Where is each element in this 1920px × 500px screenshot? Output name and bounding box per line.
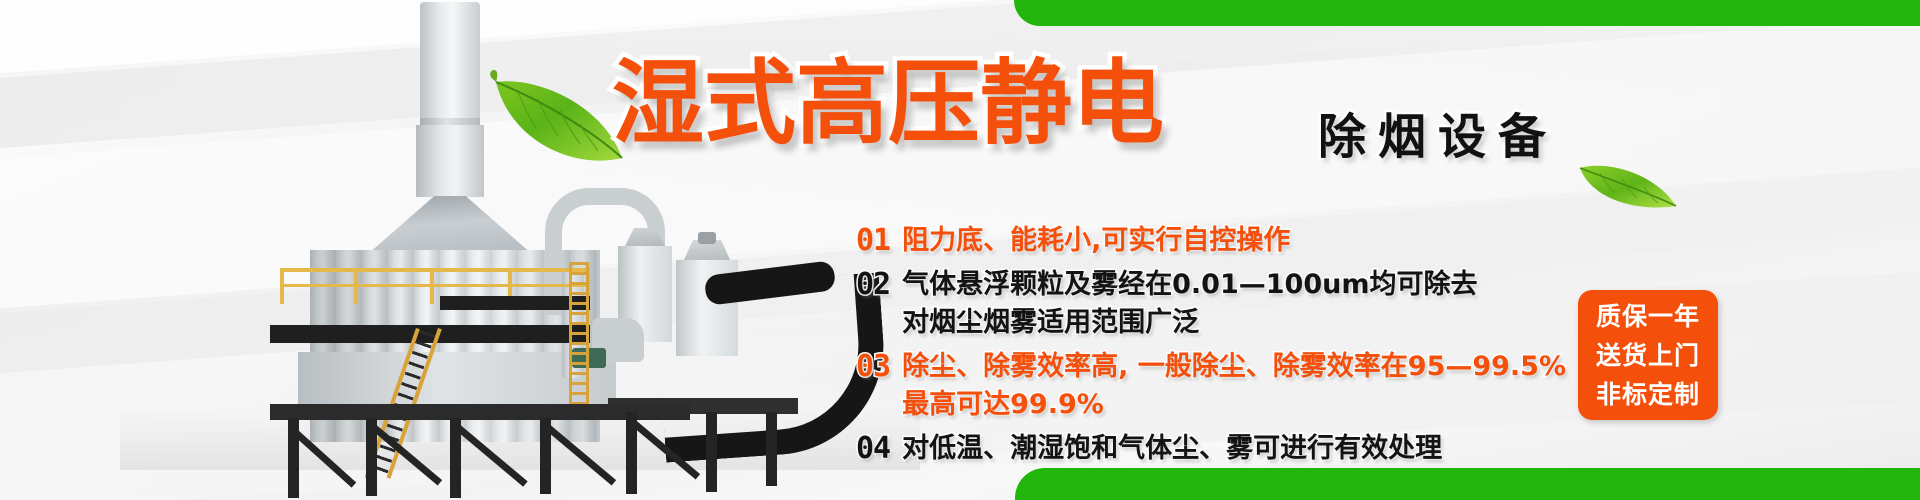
feature-list: 01 阻力底、能耗小,可实行自控操作 02 气体悬浮颗粒及雾经在0.01—100…	[856, 222, 1656, 472]
badge-line-1: 质保一年	[1596, 297, 1700, 336]
page-subtitle: 除烟设备	[1318, 108, 1558, 166]
photo-cyclone-2-cap	[698, 232, 716, 244]
feature-number: 03	[856, 348, 890, 386]
green-bar-bottom	[1015, 468, 1920, 500]
photo-chimney-stack	[420, 2, 480, 130]
feature-line-1: 除尘、除雾效率高, 一般除尘、除雾效率在95—99.5%	[902, 351, 1566, 382]
feature-line-2: 最高可达99.9%	[902, 386, 1566, 424]
badge-line-2: 送货上门	[1596, 336, 1700, 375]
photo-black-walkway-upper	[440, 296, 590, 310]
feature-item-02: 02 气体悬浮颗粒及雾经在0.01—100um均可除去 对烟尘烟雾适用范围广泛	[856, 266, 1656, 342]
feature-line-1: 阻力底、能耗小,可实行自控操作	[902, 225, 1290, 256]
photo-stack-band	[420, 118, 480, 125]
badge-line-3: 非标定制	[1596, 375, 1700, 414]
photo-stack-lower	[416, 125, 484, 197]
service-badge: 质保一年 送货上门 非标定制	[1578, 290, 1718, 420]
photo-ladder-rail-right	[586, 262, 589, 412]
feature-number: 02	[856, 266, 890, 304]
feature-text: 除尘、除雾效率高, 一般除尘、除雾效率在95—99.5% 最高可达99.9%	[902, 348, 1566, 424]
feature-line-1: 气体悬浮颗粒及雾经在0.01—100um均可除去	[902, 269, 1477, 300]
photo-ladder-rungs	[572, 262, 586, 412]
promo-banner: 湿式高压静电 除烟设备 01 阻力底、能耗小,可实行自控操作 02 气体悬浮颗粒…	[0, 0, 1920, 500]
feature-item-01: 01 阻力底、能耗小,可实行自控操作	[856, 222, 1656, 260]
feature-number: 04	[856, 430, 890, 468]
feature-item-03: 03 除尘、除雾效率高, 一般除尘、除雾效率在95—99.5% 最高可达99.9…	[856, 348, 1656, 424]
feature-line-2: 对烟尘烟雾适用范围广泛	[902, 304, 1477, 342]
photo-support-leg	[766, 412, 777, 486]
leaf-icon	[476, 58, 626, 176]
feature-number: 01	[856, 222, 890, 260]
leaf-icon	[1578, 152, 1678, 214]
feature-text: 气体悬浮颗粒及雾经在0.01—100um均可除去 对烟尘烟雾适用范围广泛	[902, 266, 1477, 342]
green-bar-top	[1014, 0, 1920, 26]
feature-line-1: 对低温、潮湿饱和气体尘、雾可进行有效处理	[902, 433, 1442, 464]
feature-text: 对低温、潮湿饱和气体尘、雾可进行有效处理	[902, 430, 1442, 468]
photo-support-leg	[706, 412, 717, 492]
feature-item-04: 04 对低温、潮湿饱和气体尘、雾可进行有效处理	[856, 430, 1656, 468]
feature-text: 阻力底、能耗小,可实行自控操作	[902, 222, 1290, 260]
